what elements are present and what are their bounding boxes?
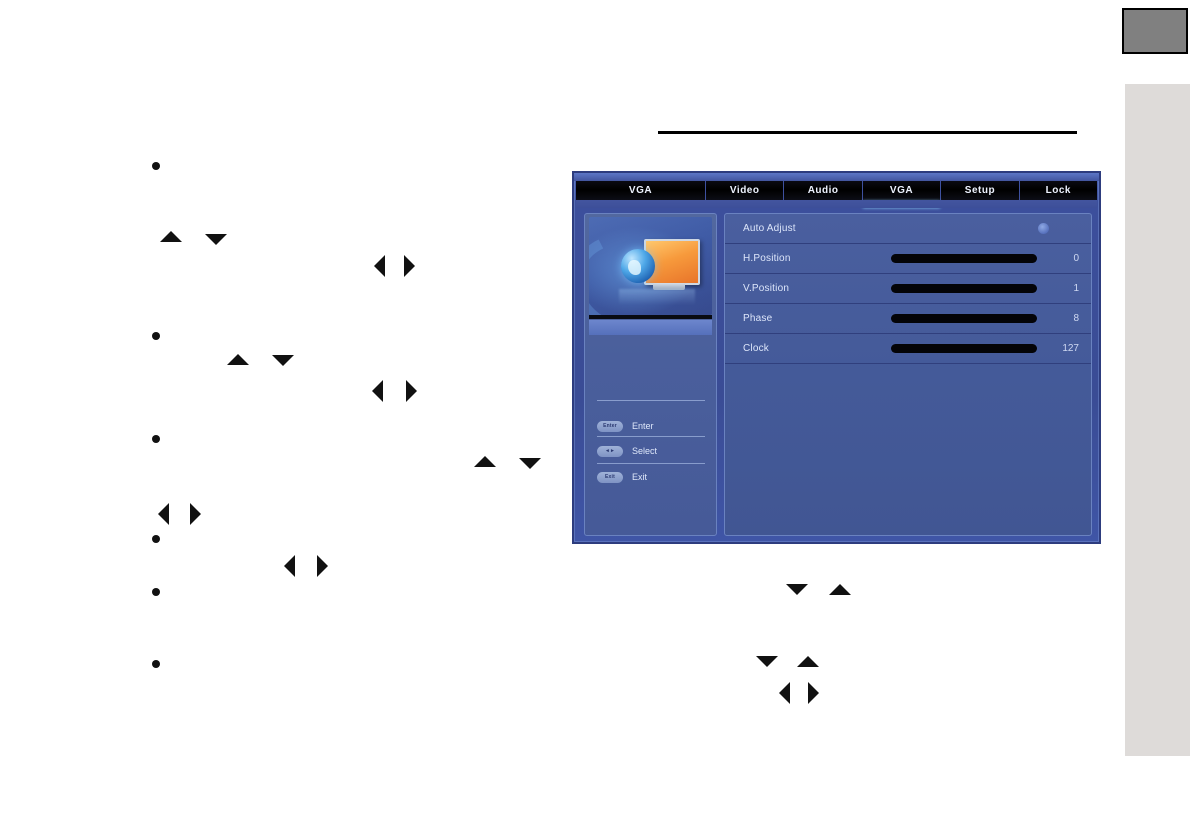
setting-row-auto-adjust[interactable]: Auto Adjust — [725, 214, 1091, 244]
arrow-right-icon — [404, 255, 415, 277]
arrow-right-icon — [406, 380, 417, 402]
setting-row-h-position[interactable]: H.Position 0 — [725, 244, 1091, 274]
osd-tab-vga-label: VGA — [890, 185, 913, 196]
key-legend-select: ◄► Select — [597, 442, 707, 460]
osd-left-panel: Enter Enter ◄► Select Exit Exit — [584, 213, 717, 536]
setting-label-h-position: H.Position — [743, 253, 891, 264]
page-root: VGA Video Audio VGA Setup Lock — [0, 0, 1190, 840]
setting-label-v-position: V.Position — [743, 283, 891, 294]
arrow-down-icon — [786, 584, 808, 595]
osd-tab-audio[interactable]: Audio — [784, 181, 862, 200]
setting-value-h-position: 0 — [1047, 253, 1079, 264]
slider-phase[interactable] — [891, 314, 1037, 323]
osd-tab-setup[interactable]: Setup — [941, 181, 1019, 200]
arrow-up-icon — [797, 656, 819, 667]
osd-tab-lock[interactable]: Lock — [1020, 181, 1097, 200]
page-corner-tab — [1122, 8, 1188, 54]
osd-menubar-shadow — [576, 200, 1097, 208]
arrow-left-icon — [372, 380, 383, 402]
setting-label-clock: Clock — [743, 343, 891, 354]
left-panel-black-separator — [589, 315, 712, 319]
slider-v-position[interactable] — [891, 284, 1037, 293]
osd-title: VGA — [576, 181, 706, 200]
setting-row-v-position[interactable]: V.Position 1 — [725, 274, 1091, 304]
arrow-down-icon — [756, 656, 778, 667]
osd-menubar: VGA Video Audio VGA Setup Lock — [576, 181, 1097, 200]
arrow-up-icon — [160, 231, 182, 242]
auto-adjust-indicator — [1038, 223, 1049, 234]
osd-screenshot: VGA Video Audio VGA Setup Lock — [572, 171, 1101, 544]
list-bullet — [152, 588, 160, 596]
list-bullet — [152, 162, 160, 170]
arrow-left-icon — [284, 555, 295, 577]
list-bullet — [152, 435, 160, 443]
enter-key-icon: Enter — [597, 421, 623, 432]
globe-icon — [621, 249, 655, 283]
left-panel-divider-bottom — [597, 463, 705, 464]
slider-clock[interactable] — [891, 344, 1037, 353]
setting-value-clock: 127 — [1047, 343, 1079, 354]
preview-image — [589, 217, 712, 315]
preview-reflection-decor — [619, 289, 695, 305]
page-right-margin-strip — [1125, 84, 1190, 756]
left-panel-divider-top — [597, 400, 705, 401]
arrow-left-icon — [374, 255, 385, 277]
key-legend-select-label: Select — [632, 446, 657, 456]
list-bullet — [152, 660, 160, 668]
arrow-left-icon — [158, 503, 169, 525]
setting-value-phase: 8 — [1047, 313, 1079, 324]
key-legend-exit-label: Exit — [632, 472, 647, 482]
arrow-up-icon — [227, 354, 249, 365]
setting-label-phase: Phase — [743, 313, 891, 324]
osd-tab-video-label: Video — [730, 185, 760, 196]
osd-title-label: VGA — [629, 185, 652, 196]
setting-label-auto-adjust: Auto Adjust — [743, 223, 891, 234]
arrow-up-icon — [474, 456, 496, 467]
arrow-left-icon — [779, 682, 790, 704]
key-legend-enter-label: Enter — [632, 421, 654, 431]
left-panel-highlight-band — [589, 320, 712, 335]
osd-tab-vga[interactable]: VGA — [863, 181, 941, 200]
arrow-up-icon — [829, 584, 851, 595]
key-legend-enter: Enter Enter — [597, 417, 707, 435]
osd-tab-lock-label: Lock — [1046, 185, 1071, 196]
slider-h-position[interactable] — [891, 254, 1037, 263]
arrow-down-icon — [519, 458, 541, 469]
arrow-down-icon — [205, 234, 227, 245]
left-panel-divider-mid — [597, 436, 705, 437]
arrow-down-icon — [272, 355, 294, 366]
key-legend-exit: Exit Exit — [597, 468, 707, 486]
exit-key-icon: Exit — [597, 472, 623, 483]
osd-tab-audio-label: Audio — [808, 185, 839, 196]
list-bullet — [152, 535, 160, 543]
arrow-right-icon — [190, 503, 201, 525]
left-right-key-icon: ◄► — [597, 446, 623, 457]
setting-row-phase[interactable]: Phase 8 — [725, 304, 1091, 334]
osd-tab-video[interactable]: Video — [706, 181, 784, 200]
list-bullet — [152, 332, 160, 340]
osd-tab-setup-label: Setup — [965, 185, 995, 196]
osd-settings-panel: Auto Adjust H.Position 0 V.Position 1 Ph… — [724, 213, 1092, 536]
osd-top-bezel — [574, 173, 1099, 181]
section-divider-rule — [658, 131, 1077, 134]
arrow-right-icon — [808, 682, 819, 704]
setting-value-v-position: 1 — [1047, 283, 1079, 294]
setting-row-clock[interactable]: Clock 127 — [725, 334, 1091, 364]
arrow-right-icon — [317, 555, 328, 577]
